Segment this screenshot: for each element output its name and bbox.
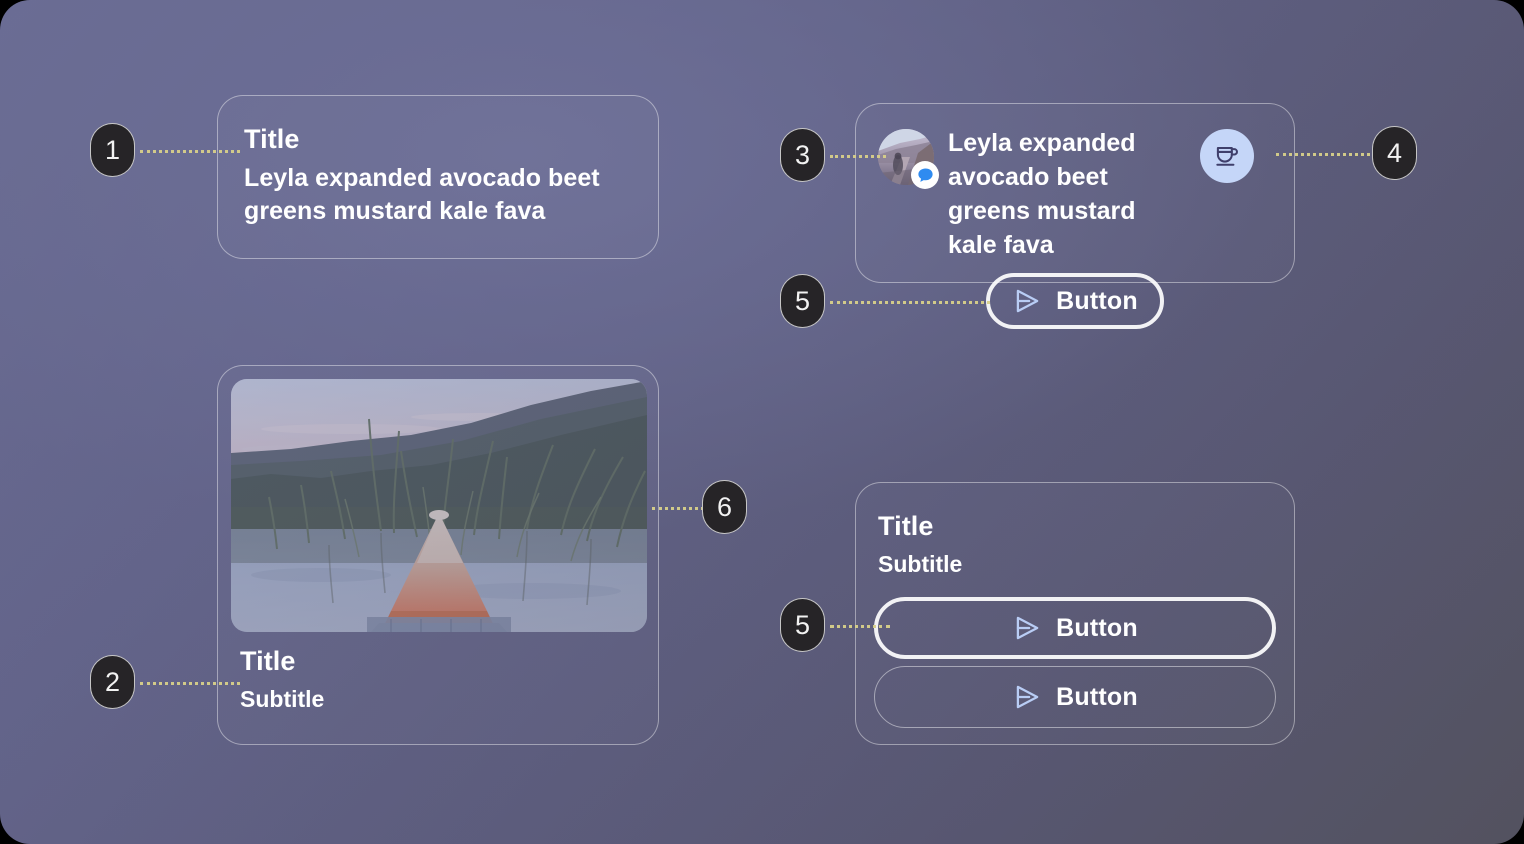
annotation-badge-1: 1 — [90, 123, 135, 177]
floating-button[interactable]: Button — [986, 273, 1164, 329]
text-card-body: Leyla expanded avocado beet greens musta… — [244, 162, 632, 228]
annotation-badge-1-label: 1 — [105, 135, 120, 166]
media-card[interactable]: Title Subtitle — [217, 365, 659, 745]
avatar[interactable] — [878, 129, 934, 185]
text-card[interactable]: Title Leyla expanded avocado beet greens… — [217, 95, 659, 259]
connector-4 — [1276, 153, 1370, 159]
annotation-board: Title Leyla expanded avocado beet greens… — [0, 0, 1524, 844]
annotation-badge-3-label: 3 — [795, 140, 810, 171]
annotation-badge-5-floating-label: 5 — [795, 286, 810, 317]
actions-card-button-secondary[interactable]: Button — [874, 666, 1276, 728]
annotation-badge-4-label: 4 — [1387, 138, 1402, 169]
connector-6 — [652, 507, 704, 513]
media-card-thumbnail[interactable] — [231, 379, 647, 632]
annotation-badge-5-stack: 5 — [780, 598, 825, 652]
actions-card-button-primary-label: Button — [1056, 614, 1138, 643]
message-card-text: Leyla expanded avocado beet greens musta… — [948, 126, 1186, 262]
media-card-title: Title — [240, 646, 638, 676]
annotation-badge-6: 6 — [702, 480, 747, 534]
annotation-badge-6-label: 6 — [717, 492, 732, 523]
connector-3 — [830, 155, 886, 161]
annotation-badge-5-floating: 5 — [780, 274, 825, 328]
annotation-badge-3: 3 — [780, 128, 825, 182]
text-card-title: Title — [244, 124, 632, 154]
media-card-subtitle: Subtitle — [240, 686, 638, 714]
annotation-badge-2-label: 2 — [105, 667, 120, 698]
connector-1 — [140, 150, 240, 156]
actions-card-subtitle: Subtitle — [878, 551, 1274, 579]
annotation-badge-2: 2 — [90, 655, 135, 709]
floating-button-label: Button — [1056, 287, 1138, 316]
annotation-badge-5-stack-label: 5 — [795, 610, 810, 641]
connector-2 — [140, 682, 240, 688]
connector-5-floating — [830, 301, 990, 307]
actions-card-button-primary[interactable]: Button — [874, 597, 1276, 659]
connector-5-stack — [830, 625, 890, 631]
chat-bubble-icon — [911, 161, 939, 189]
message-card[interactable]: Leyla expanded avocado beet greens musta… — [855, 103, 1295, 283]
actions-card-title: Title — [878, 511, 1274, 541]
coffee-cup-icon[interactable] — [1200, 129, 1254, 183]
actions-card[interactable]: Title Subtitle Button Button — [855, 482, 1295, 745]
actions-card-button-secondary-label: Button — [1056, 683, 1138, 712]
annotation-badge-4: 4 — [1372, 126, 1417, 180]
